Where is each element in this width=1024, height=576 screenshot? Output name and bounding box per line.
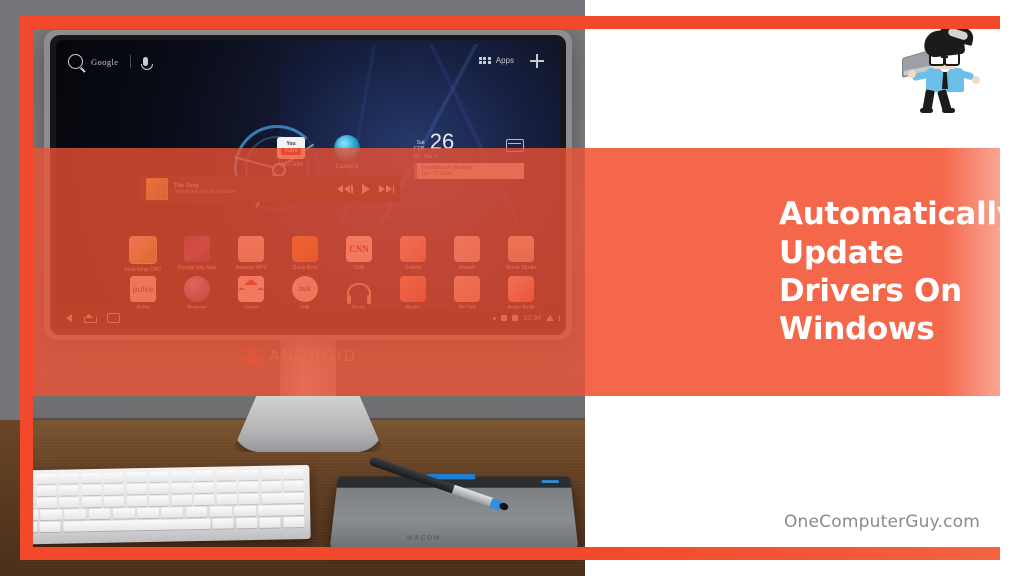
google-label: Google <box>91 57 118 67</box>
title-wrap: Automatically Update Drivers On Windows <box>585 148 1000 396</box>
photo-top-margin <box>0 0 585 16</box>
mascot-right-hand <box>972 76 980 84</box>
photo-left-margin-lower <box>0 420 20 576</box>
mascot-left-hand <box>908 70 916 78</box>
title-band: Automatically Update Drivers On Windows <box>585 148 1000 396</box>
wireless-keyboard[interactable] <box>0 465 311 545</box>
apps-label: Apps <box>496 56 514 65</box>
computer-guy-mascot <box>896 28 988 112</box>
google-search-bar[interactable]: Google <box>68 54 148 69</box>
apps-button[interactable]: Apps <box>479 56 514 65</box>
search-icon <box>68 54 83 69</box>
banner-image: Google Apps <box>0 0 1024 576</box>
frame-left-bar <box>20 16 33 560</box>
monitor-stand-base <box>232 396 384 452</box>
title-line-2: Drivers On Windows <box>779 273 962 347</box>
mascot-right-shoe <box>942 108 955 113</box>
mascot-left-shoe <box>920 108 933 113</box>
title-line-1: Automatically Update <box>779 196 1017 270</box>
divider <box>130 55 131 68</box>
stylus-tip <box>498 502 509 512</box>
frame-top-bar <box>20 16 1000 29</box>
tablet-brand-label: WACOM <box>407 536 442 542</box>
frame-bottom-bar <box>20 547 1000 560</box>
orange-overlay-tint <box>0 148 585 396</box>
microphone-icon[interactable] <box>143 57 148 66</box>
add-widget-button[interactable] <box>530 54 544 68</box>
page-title: Automatically Update Drivers On Windows <box>585 195 1017 349</box>
desk-photo: Google Apps <box>0 0 585 576</box>
grid-icon <box>479 57 491 65</box>
site-brand[interactable]: OneComputerGuy.com <box>784 512 980 532</box>
tablet-led-indicator <box>541 480 559 483</box>
